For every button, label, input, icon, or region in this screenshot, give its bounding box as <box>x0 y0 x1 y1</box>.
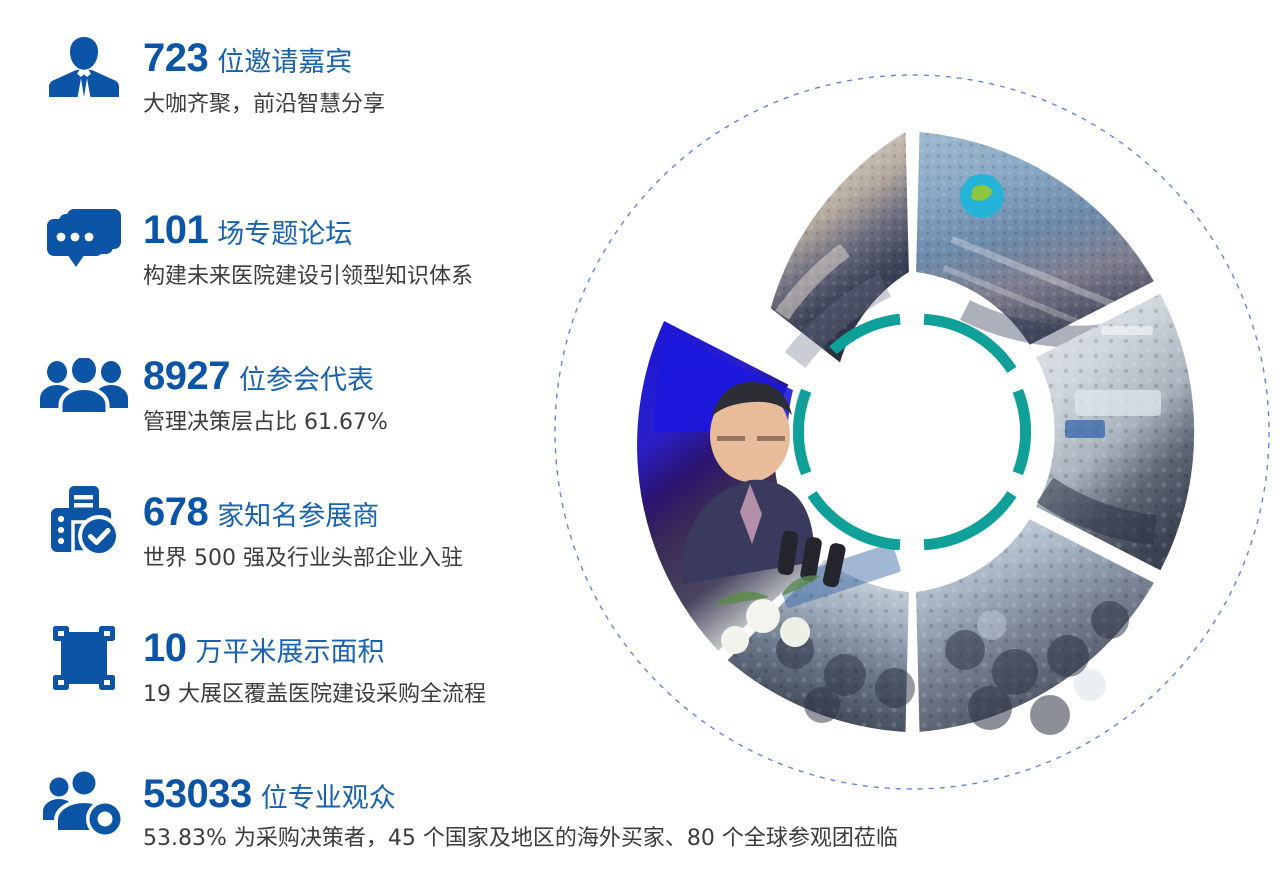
stat-text-block: 723 位邀请嘉宾 大咖齐聚，前沿智慧分享 <box>143 38 385 118</box>
stat-subtitle: 大咖齐聚，前沿智慧分享 <box>143 92 385 118</box>
stat-subtitle: 管理决策层占比 61.67% <box>143 410 388 436</box>
stat-subtitle: 19 大展区覆盖医院建设采购全流程 <box>143 682 486 708</box>
people-group-icon <box>38 350 130 422</box>
stat-unit: 家知名参展商 <box>217 503 379 530</box>
building-check-icon <box>38 486 130 558</box>
stat-subtitle: 53.83% 为采购决策者，45 个国家及地区的海外买家、80 个全球参观团莅临 <box>143 826 898 852</box>
stat-text-block: 10 万平米展示面积 19 大展区覆盖医院建设采购全流程 <box>143 628 486 708</box>
stat-number: 10 <box>143 628 187 668</box>
segment-conference-hall[interactable] <box>771 132 909 362</box>
stat-number: 678 <box>143 492 208 532</box>
circular-photo-collage <box>545 60 1280 820</box>
audience-icon <box>38 768 130 840</box>
stat-headline: 723 位邀请嘉宾 <box>143 38 385 78</box>
stat-subtitle: 世界 500 强及行业头部企业入驻 <box>143 546 463 572</box>
stat-unit: 场专题论坛 <box>217 221 352 248</box>
segment-audience-crowd[interactable] <box>916 519 1154 735</box>
area-frame-icon <box>38 622 130 694</box>
chat-bubbles-icon <box>38 204 130 276</box>
stat-headline: 8927 位参会代表 <box>143 356 388 396</box>
stat-headline: 101 场专题论坛 <box>143 210 473 250</box>
stat-text-block: 101 场专题论坛 构建未来医院建设引领型知识体系 <box>143 210 473 290</box>
stat-text-block: 678 家知名参展商 世界 500 强及行业头部企业入驻 <box>143 492 463 572</box>
stat-number: 53033 <box>143 774 252 814</box>
stat-text-block: 8927 位参会代表 管理决策层占比 61.67% <box>143 356 388 436</box>
collage-segments <box>637 132 1194 735</box>
stat-unit: 位参会代表 <box>239 367 374 394</box>
stat-headline: 678 家知名参展商 <box>143 492 463 532</box>
segment-exhibition-booth[interactable] <box>916 132 1154 345</box>
stat-number: 8927 <box>143 356 230 396</box>
stat-headline: 10 万平米展示面积 <box>143 628 486 668</box>
stat-unit: 位邀请嘉宾 <box>217 49 352 76</box>
stat-subtitle: 构建未来医院建设引领型知识体系 <box>143 264 473 290</box>
stat-number: 101 <box>143 210 208 250</box>
stat-unit: 位专业观众 <box>261 785 396 812</box>
stat-unit: 万平米展示面积 <box>196 639 385 666</box>
stat-number: 723 <box>143 38 208 78</box>
businessman-icon <box>38 30 130 102</box>
